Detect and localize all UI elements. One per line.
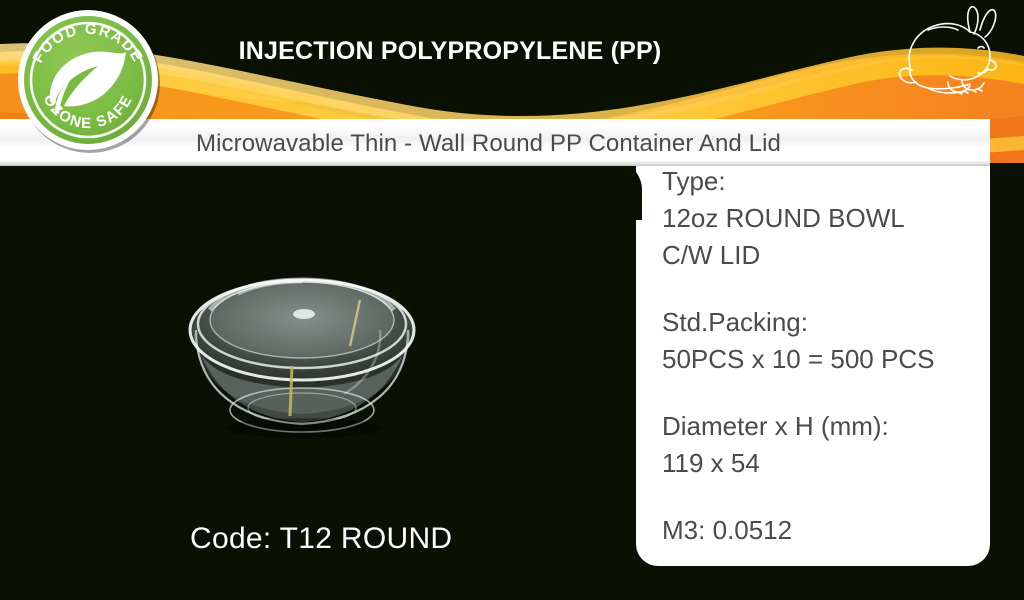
spec-info-panel: Type: 12oz ROUND BOWL C/W LID Std.Packin… (636, 119, 990, 566)
spacer-3 (662, 482, 990, 512)
packing-value: 50PCS x 10 = 500 PCS (662, 341, 990, 378)
product-spec-card: INJECTION POLYPROPYLENE (PP) Microwavabl… (0, 0, 1024, 600)
dark-corner-notch (0, 160, 642, 220)
dimension-value: 119 x 54 (662, 445, 990, 482)
type-value-line-1: 12oz ROUND BOWL (662, 200, 990, 237)
type-value-line-2: C/W LID (662, 237, 990, 274)
product-code-label: Code: T12 ROUND (190, 522, 452, 556)
subtitle-text: Microwavable Thin - Wall Round PP Contai… (196, 130, 781, 158)
packing-label: Std.Packing: (662, 304, 990, 341)
spacer-1 (662, 274, 990, 304)
food-grade-ozone-safe-badge: FOOD GRADE OZONE SAFE (14, 6, 162, 154)
spacer-2 (662, 378, 990, 408)
rabbit-icon (892, 4, 1010, 108)
dimension-label: Diameter x H (mm): (662, 408, 990, 445)
round-bowl-with-lid-photo (152, 238, 452, 460)
m3-value: M3: 0.0512 (662, 512, 990, 549)
type-label: Type: (662, 163, 990, 200)
